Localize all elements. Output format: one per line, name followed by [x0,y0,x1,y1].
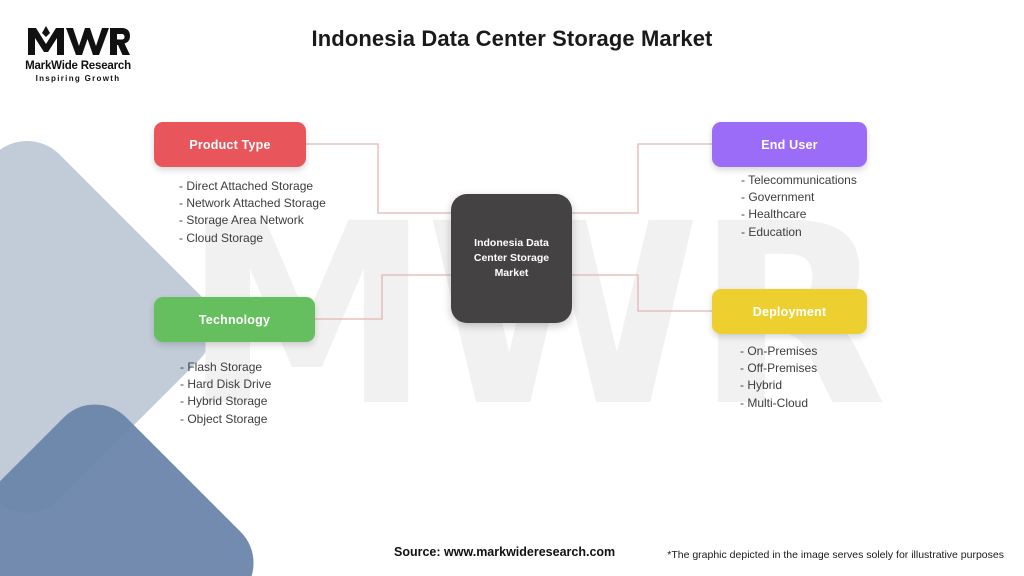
list-item: - Storage Area Network [179,212,326,229]
footer-disclaimer: *The graphic depicted in the image serve… [667,549,1004,561]
node-deployment[interactable]: Deployment [712,289,867,334]
list-item: - Multi-Cloud [740,395,817,412]
list-item: - Flash Storage [180,359,271,376]
list-item: - Hybrid Storage [180,393,271,410]
infographic-canvas: MWR MarkWide Research Inspiring Growth I… [0,0,1024,576]
center-node-label: Indonesia Data Center Storage Market [451,236,572,281]
node-technology-label: Technology [199,313,270,327]
list-item: - Education [741,224,857,241]
node-end-user-label: End User [761,138,817,152]
connector-technology [315,275,451,319]
list-item: - Government [741,189,857,206]
list-item: - Healthcare [741,206,857,223]
node-technology[interactable]: Technology [154,297,315,342]
list-item: - Object Storage [180,411,271,428]
list-item: - Cloud Storage [179,230,326,247]
list-technology: - Flash Storage - Hard Disk Drive - Hybr… [180,359,271,428]
connector-product-type [306,144,451,213]
list-item: - Direct Attached Storage [179,178,326,195]
node-product-type-label: Product Type [189,138,270,152]
node-product-type[interactable]: Product Type [154,122,306,167]
connector-deployment [572,275,712,311]
connector-end-user [572,144,712,213]
list-item: - Hybrid [740,377,817,394]
list-item: - Off-Premises [740,360,817,377]
list-item: - Hard Disk Drive [180,376,271,393]
list-end-user: - Telecommunications - Government - Heal… [741,172,857,241]
list-product-type: - Direct Attached Storage - Network Atta… [179,178,326,247]
list-item: - On-Premises [740,343,817,360]
node-deployment-label: Deployment [753,305,827,319]
footer-source[interactable]: Source: www.markwideresearch.com [394,545,615,559]
node-end-user[interactable]: End User [712,122,867,167]
list-item: - Telecommunications [741,172,857,189]
list-item: - Network Attached Storage [179,195,326,212]
list-deployment: - On-Premises - Off-Premises - Hybrid - … [740,343,817,412]
center-node[interactable]: Indonesia Data Center Storage Market [451,194,572,323]
